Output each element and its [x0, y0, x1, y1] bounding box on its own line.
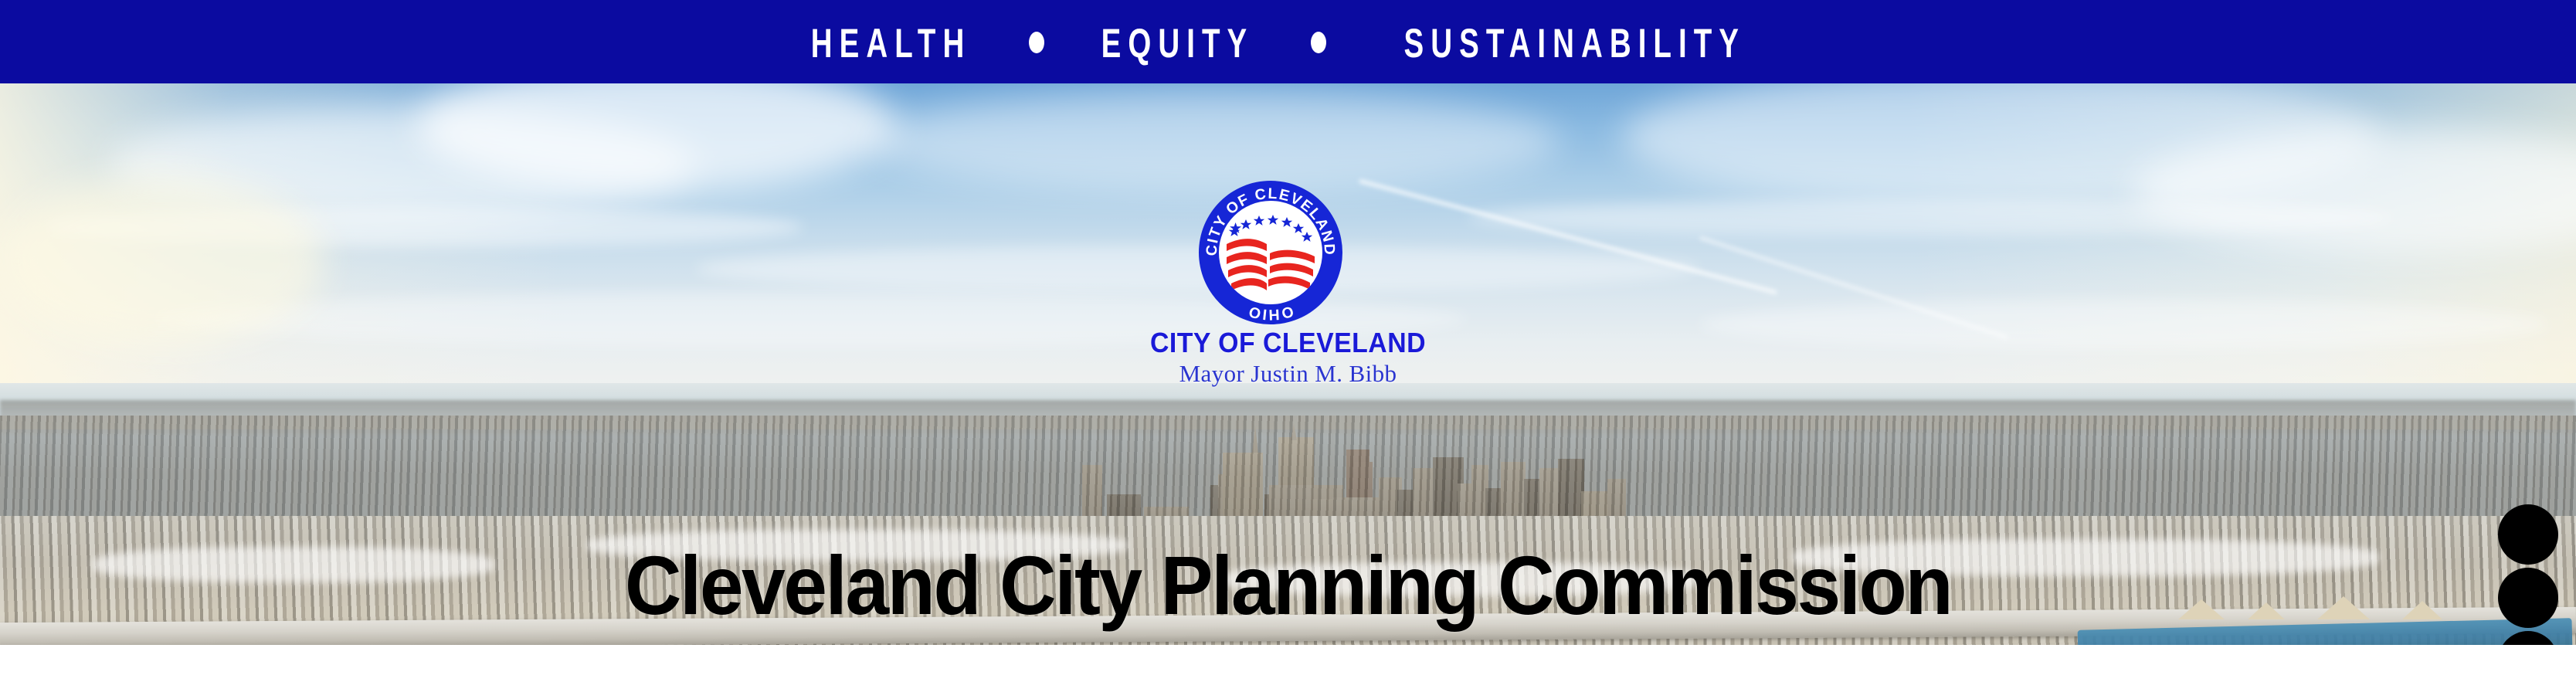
svg-text:OHIO: OHIO: [1246, 302, 1295, 323]
city-of-cleveland-seal: CITY OF CLEVELAND OHIO: [1199, 181, 1342, 324]
page-root: HEALTH EQUITY SUSTAINABILITY: [0, 0, 2576, 682]
bottom-whitespace: [0, 645, 2576, 682]
hero-photo: CITY OF CLEVELAND OHIO: [0, 83, 2576, 645]
social-link-facebook[interactable]: [2498, 631, 2558, 645]
page-title: Cleveland City Planning Commission: [0, 544, 2576, 627]
tagline-word-health: HEALTH: [810, 21, 971, 63]
seal-inner-disc: [1219, 201, 1322, 304]
tagline-word-sustainability: SUSTAINABILITY: [1403, 21, 1745, 63]
bullet-dot-icon: [1311, 32, 1326, 53]
social-link-youtube[interactable]: [2498, 504, 2558, 565]
instagram-icon: [2510, 580, 2546, 616]
tagline-word-equity: EQUITY: [1101, 21, 1254, 63]
tagline-content: HEALTH EQUITY SUSTAINABILITY: [0, 0, 2576, 83]
social-media-rail: [2497, 504, 2559, 645]
youtube-icon: [2510, 517, 2546, 552]
seal-flag-icon: [1222, 232, 1319, 303]
social-link-instagram[interactable]: [2498, 568, 2558, 628]
tagline-banner: HEALTH EQUITY SUSTAINABILITY: [0, 0, 2576, 83]
bullet-dot-icon: [1029, 32, 1044, 53]
